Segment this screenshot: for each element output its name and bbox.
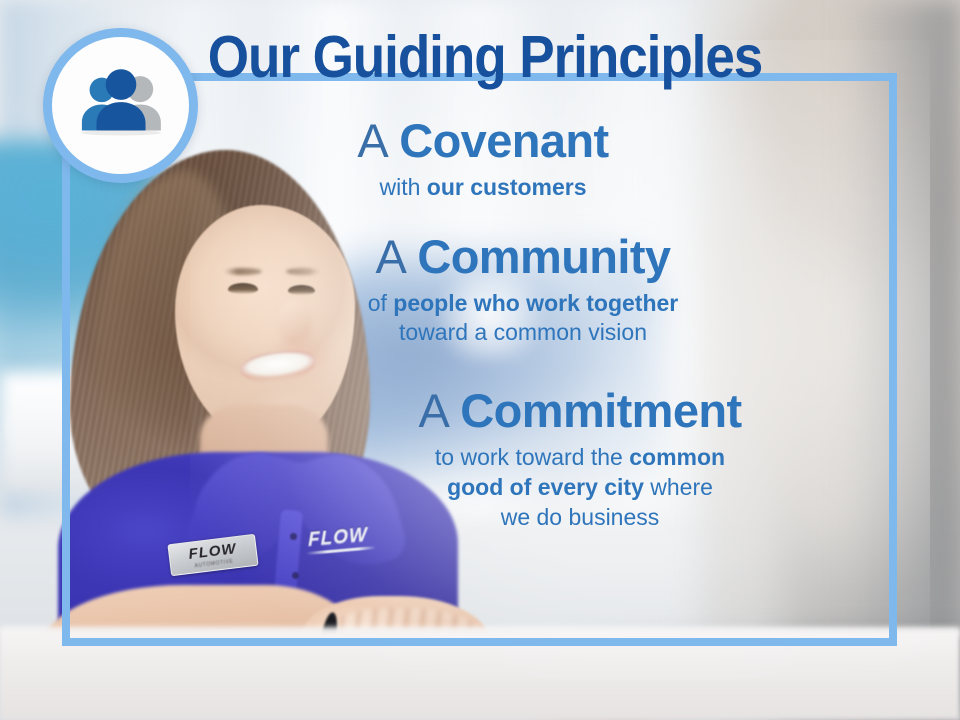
people-group-icon xyxy=(75,60,167,152)
principle-article: A xyxy=(376,230,418,283)
shirt-button-bottom xyxy=(292,572,299,579)
principle-span-bold: good of every city xyxy=(447,474,644,500)
promotional-graphic: FLOW AUTOMOTIVE FLOW xyxy=(0,0,960,720)
principle-keyword: Commitment xyxy=(460,384,741,437)
eye-left xyxy=(228,283,258,294)
shirt-button-top xyxy=(290,533,297,540)
principle-span: toward a common vision xyxy=(399,319,647,345)
principle-span-bold: common xyxy=(629,444,725,470)
principle-span-bold: people who work together xyxy=(393,290,678,316)
principle-headline: A Community xyxy=(258,233,788,282)
principle-keyword: Covenant xyxy=(399,114,608,167)
right-wall-shadow xyxy=(840,0,960,720)
principle-community: A Community of people who work together … xyxy=(258,233,788,348)
principle-span: we do business xyxy=(501,504,660,530)
principle-article: A xyxy=(357,114,399,167)
white-desk xyxy=(0,630,960,720)
principle-line: good of every city where xyxy=(330,473,830,503)
principle-span: with xyxy=(379,174,426,200)
principle-line: with our customers xyxy=(218,173,748,202)
principle-article: A xyxy=(418,384,460,437)
principle-headline: A Covenant xyxy=(218,117,748,166)
people-group-badge xyxy=(43,28,198,183)
principle-headline: A Commitment xyxy=(330,387,830,436)
principle-span-bold: our customers xyxy=(427,174,587,200)
page-title: Our Guiding Principles xyxy=(188,28,782,87)
principle-line: to work toward the common xyxy=(330,443,830,473)
principle-span: of xyxy=(368,290,394,316)
principle-span: where xyxy=(644,474,713,500)
principle-commitment: A Commitment to work toward the common g… xyxy=(330,387,830,533)
eyebrow-left xyxy=(224,268,262,275)
principle-line: of people who work together xyxy=(258,289,788,318)
principle-keyword: Community xyxy=(417,230,670,283)
principle-line: we do business xyxy=(330,503,830,533)
principle-line: toward a common vision xyxy=(258,318,788,347)
principle-covenant: A Covenant with our customers xyxy=(218,117,748,202)
principle-span: to work toward the xyxy=(435,444,629,470)
